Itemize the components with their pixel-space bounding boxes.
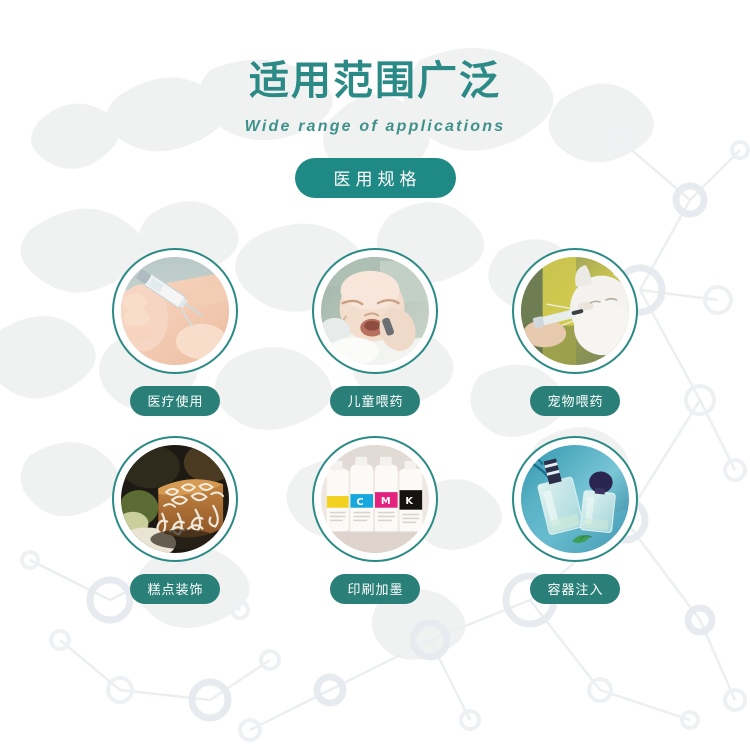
svg-text:M: M: [381, 496, 391, 507]
page-title: 适用范围广泛: [0, 58, 750, 104]
page-subtitle: Wide range of applications: [0, 118, 750, 136]
application-item: 医疗使用: [75, 248, 275, 416]
svg-text:K: K: [405, 496, 413, 507]
image-frame: [120, 256, 230, 366]
image-ring: [512, 436, 638, 562]
svg-text:C: C: [356, 497, 363, 508]
syringe-injection-photo: [121, 257, 229, 365]
cmyk-ink-bottles-photo: C M: [321, 445, 429, 553]
image-ring: [512, 248, 638, 374]
application-item: 宠物喂药: [475, 248, 675, 416]
decorated-cake-photo: [121, 445, 229, 553]
image-frame: [520, 444, 630, 554]
item-label: 医疗使用: [130, 386, 219, 416]
perfume-bottles-photo: [521, 445, 629, 553]
application-item: 容器注入: [475, 436, 675, 604]
image-ring: [112, 248, 238, 374]
image-ring: [312, 248, 438, 374]
image-frame: [120, 444, 230, 554]
item-label: 印刷加墨: [330, 574, 419, 604]
promo-page: 适用范围广泛 Wide range of applications 医用规格: [0, 0, 750, 750]
image-frame: C M: [320, 444, 430, 554]
application-item: 儿童喂药: [275, 248, 475, 416]
applications-grid: 医疗使用: [75, 248, 675, 624]
header: 适用范围广泛 Wide range of applications 医用规格: [0, 0, 750, 198]
cat-feeding-medicine-photo: [521, 257, 629, 365]
image-frame: [520, 256, 630, 366]
spec-badge: 医用规格: [295, 158, 456, 198]
item-label: 容器注入: [530, 574, 619, 604]
application-item: 糕点装饰: [75, 436, 275, 604]
baby-feeding-medicine-photo: [321, 257, 429, 365]
item-label: 糕点装饰: [130, 574, 219, 604]
application-item: C M: [275, 436, 475, 604]
image-ring: C M: [312, 436, 438, 562]
item-label: 宠物喂药: [530, 386, 619, 416]
image-ring: [112, 436, 238, 562]
badge-row: 医用规格: [0, 158, 750, 198]
item-label: 儿童喂药: [330, 386, 419, 416]
image-frame: [320, 256, 430, 366]
